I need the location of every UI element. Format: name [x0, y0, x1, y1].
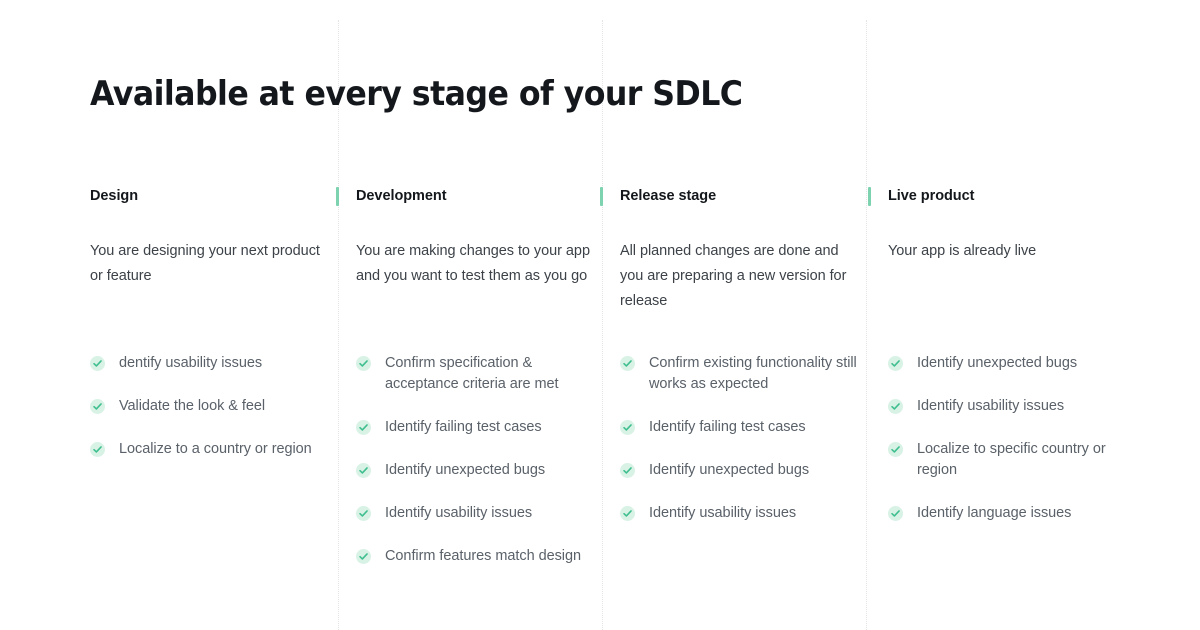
check-circle-icon: [620, 356, 635, 371]
list-item-label: Identify unexpected bugs: [917, 353, 1077, 374]
check-circle-icon: [90, 356, 105, 371]
check-circle-icon: [620, 463, 635, 478]
list-item-label: Identify failing test cases: [649, 417, 806, 438]
check-circle-icon: [90, 442, 105, 457]
stage-checklist: Confirm specification & acceptance crite…: [356, 353, 594, 567]
check-circle-icon: [356, 549, 371, 564]
check-circle-icon: [888, 442, 903, 457]
check-circle-icon: [356, 463, 371, 478]
list-item: Localize to a country or region: [90, 439, 328, 460]
sdlc-stages-infographic: Available at every stage of your SDLC De…: [0, 0, 1200, 630]
list-item-label: Localize to specific country or region: [917, 439, 1126, 481]
list-item-label: Confirm features match design: [385, 546, 581, 567]
list-item: Confirm specification & acceptance crite…: [356, 353, 594, 395]
stage-column: DesignYou are designing your next produc…: [90, 186, 330, 289]
list-item-label: Identify usability issues: [385, 503, 532, 524]
stage-title: Release stage: [620, 186, 860, 206]
list-item: Validate the look & feel: [90, 396, 328, 417]
list-item-label: Identify unexpected bugs: [385, 460, 545, 481]
list-item-label: Validate the look & feel: [119, 396, 265, 417]
stage-title: Live product: [888, 186, 1128, 206]
page-title: Available at every stage of your SDLC: [90, 72, 742, 116]
list-item-label: Identify usability issues: [917, 396, 1064, 417]
check-circle-icon: [888, 506, 903, 521]
list-item: Identify failing test cases: [356, 417, 594, 438]
check-circle-icon: [356, 506, 371, 521]
stage-column-header: Development: [356, 186, 596, 212]
stage-checklist: Identify unexpected bugsIdentify usabili…: [888, 353, 1126, 524]
stage-title: Design: [90, 186, 330, 206]
check-circle-icon: [888, 399, 903, 414]
list-item: Confirm existing functionality still wor…: [620, 353, 858, 395]
list-item: Identify unexpected bugs: [888, 353, 1126, 374]
check-circle-icon: [620, 420, 635, 435]
list-item-label: Identify unexpected bugs: [649, 460, 809, 481]
stage-column-header: Live product: [888, 186, 1128, 212]
list-item: Confirm features match design: [356, 546, 594, 567]
list-item-label: Identify usability issues: [649, 503, 796, 524]
check-circle-icon: [90, 399, 105, 414]
list-item: Identify usability issues: [888, 396, 1126, 417]
check-circle-icon: [888, 356, 903, 371]
check-circle-icon: [356, 420, 371, 435]
accent-tick-marker: [336, 187, 339, 206]
list-item: dentify usability issues: [90, 353, 328, 374]
stage-column: DevelopmentYou are making changes to you…: [356, 186, 596, 289]
check-circle-icon: [356, 356, 371, 371]
stage-description: You are designing your next product or f…: [90, 239, 328, 289]
stage-checklist: dentify usability issuesValidate the loo…: [90, 353, 328, 460]
list-item: Identify unexpected bugs: [620, 460, 858, 481]
stage-column-header: Release stage: [620, 186, 860, 212]
accent-tick-marker: [868, 187, 871, 206]
accent-tick-marker: [600, 187, 603, 206]
stage-title: Development: [356, 186, 596, 206]
list-item-label: Identify language issues: [917, 503, 1071, 524]
column-divider-3: [866, 20, 867, 630]
list-item-label: dentify usability issues: [119, 353, 262, 374]
list-item: Identify usability issues: [356, 503, 594, 524]
check-circle-icon: [620, 506, 635, 521]
stage-column: Live productYour app is already liveIden…: [888, 186, 1128, 264]
stage-description: Your app is already live: [888, 239, 1126, 264]
list-item: Identify usability issues: [620, 503, 858, 524]
list-item: Identify unexpected bugs: [356, 460, 594, 481]
stage-column-header: Design: [90, 186, 330, 212]
stage-description: All planned changes are done and you are…: [620, 239, 858, 314]
list-item: Identify language issues: [888, 503, 1126, 524]
list-item: Identify failing test cases: [620, 417, 858, 438]
stage-column: Release stageAll planned changes are don…: [620, 186, 860, 314]
list-item: Localize to specific country or region: [888, 439, 1126, 481]
stage-description: You are making changes to your app and y…: [356, 239, 594, 289]
list-item-label: Confirm existing functionality still wor…: [649, 353, 858, 395]
list-item-label: Identify failing test cases: [385, 417, 542, 438]
stage-checklist: Confirm existing functionality still wor…: [620, 353, 858, 524]
list-item-label: Confirm specification & acceptance crite…: [385, 353, 594, 395]
list-item-label: Localize to a country or region: [119, 439, 312, 460]
